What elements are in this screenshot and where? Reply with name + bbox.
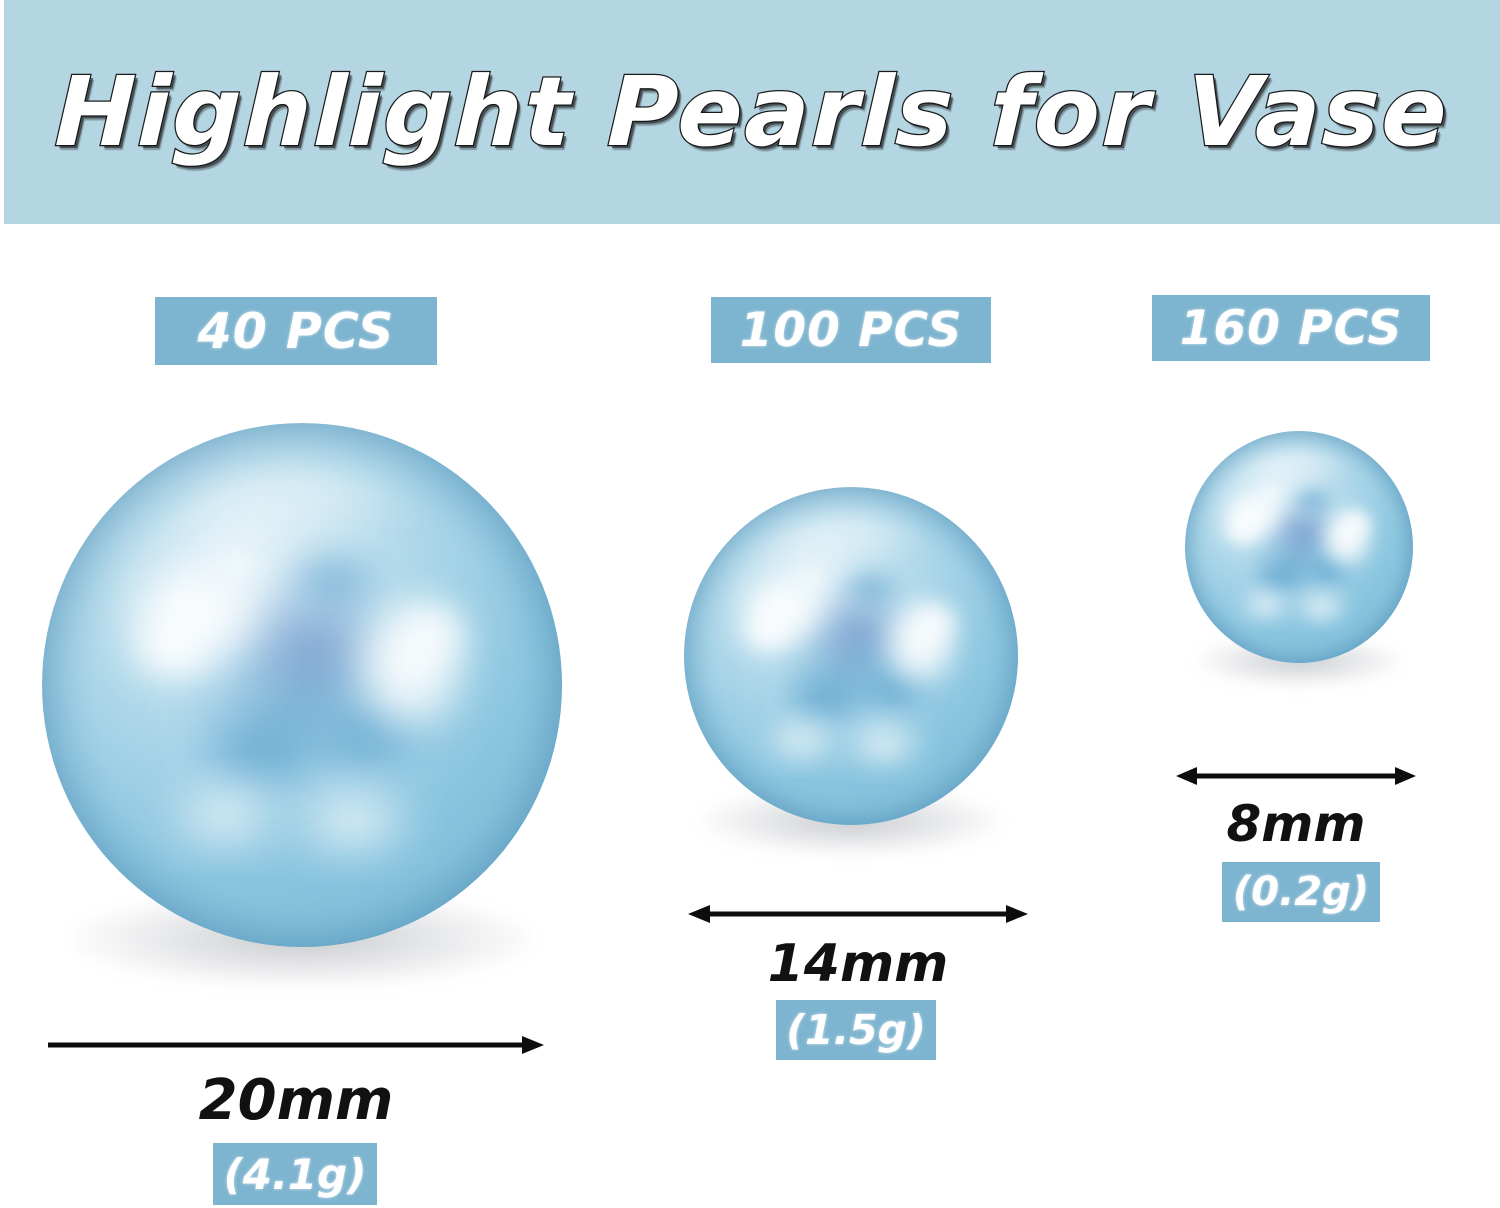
- pearl-medium-14mm: [684, 487, 1018, 825]
- page-title: Highlight Pearls for Vase: [0, 0, 1500, 224]
- pearl-small-8mm: [1185, 431, 1413, 663]
- header-banner: Highlight Pearls for Vase: [4, 0, 1500, 224]
- weight-badge-4-1g: (4.1g): [213, 1143, 377, 1205]
- pcs-badge-100: 100 PCS: [711, 297, 991, 363]
- weight-badge-0-2g: (0.2g): [1222, 862, 1380, 922]
- size-label-8mm: 8mm: [1176, 795, 1416, 853]
- pearl-small-wrap: [1185, 431, 1413, 663]
- weight-badge-1-5g: (1.5g): [776, 1000, 936, 1060]
- pearl-large-20mm: [42, 423, 562, 947]
- pcs-badge-160: 160 PCS: [1152, 295, 1430, 361]
- pearl-large-wrap: [42, 423, 562, 947]
- size-label-20mm: 20mm: [48, 1068, 544, 1133]
- pcs-badge-40: 40 PCS: [155, 297, 437, 365]
- pearl-medium-wrap: [684, 487, 1018, 825]
- size-label-14mm: 14mm: [688, 934, 1028, 994]
- dimension-arrow-20mm: [48, 1034, 544, 1056]
- dimension-arrow-8mm: [1176, 765, 1416, 787]
- dimension-arrow-14mm: [688, 903, 1028, 925]
